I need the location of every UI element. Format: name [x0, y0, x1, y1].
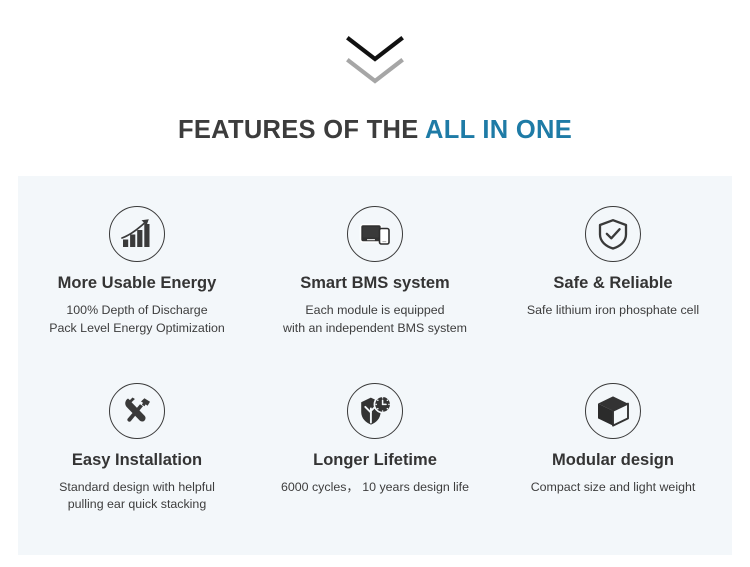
feature-title: Easy Installation — [72, 451, 202, 470]
feature-card-modular-design: Modular design Compact size and light we… — [494, 366, 732, 556]
devices-tablet-phone-icon — [347, 206, 403, 262]
page-title: FEATURES OF THE ALL IN ONE — [0, 116, 750, 145]
feature-card-smart-bms-system: Smart BMS system Each module is equipped… — [256, 176, 494, 366]
feature-title: Longer Lifetime — [313, 451, 437, 470]
feature-description: 100% Depth of Discharge Pack Level Energ… — [49, 302, 225, 337]
shield-check-icon — [585, 206, 641, 262]
feature-card-safe-reliable: Safe & Reliable Safe lithium iron phosph… — [494, 176, 732, 366]
feature-description: Safe lithium iron phosphate cell — [527, 302, 699, 320]
page-title-plain: FEATURES OF THE — [178, 116, 425, 144]
feature-card-easy-installation: Easy Installation Standard design with h… — [18, 366, 256, 556]
feature-description: Each module is equipped with an independ… — [283, 302, 467, 337]
feature-title: Safe & Reliable — [553, 274, 672, 293]
feature-description: 6000 cycles， 10 years design life — [281, 479, 469, 497]
feature-description: Compact size and light weight — [531, 479, 696, 497]
chevron-decoration — [0, 36, 750, 88]
feature-card-longer-lifetime: Longer Lifetime 6000 cycles， 10 years de… — [256, 366, 494, 556]
page-title-accent: ALL IN ONE — [425, 116, 572, 144]
features-grid: More Usable Energy 100% Depth of Dischar… — [18, 176, 732, 555]
growth-bar-chart-icon — [109, 206, 165, 262]
feature-title: Smart BMS system — [300, 274, 449, 293]
feature-description: Standard design with helpful pulling ear… — [59, 479, 215, 514]
feature-title: Modular design — [552, 451, 674, 470]
features-panel: More Usable Energy 100% Depth of Dischar… — [18, 176, 732, 555]
cube-box-icon — [585, 383, 641, 439]
leaf-clock-icon — [347, 383, 403, 439]
wrench-hammer-icon — [109, 383, 165, 439]
feature-card-more-usable-energy: More Usable Energy 100% Depth of Dischar… — [18, 176, 256, 366]
chevron-down-icon — [346, 58, 404, 84]
feature-title: More Usable Energy — [58, 274, 217, 293]
